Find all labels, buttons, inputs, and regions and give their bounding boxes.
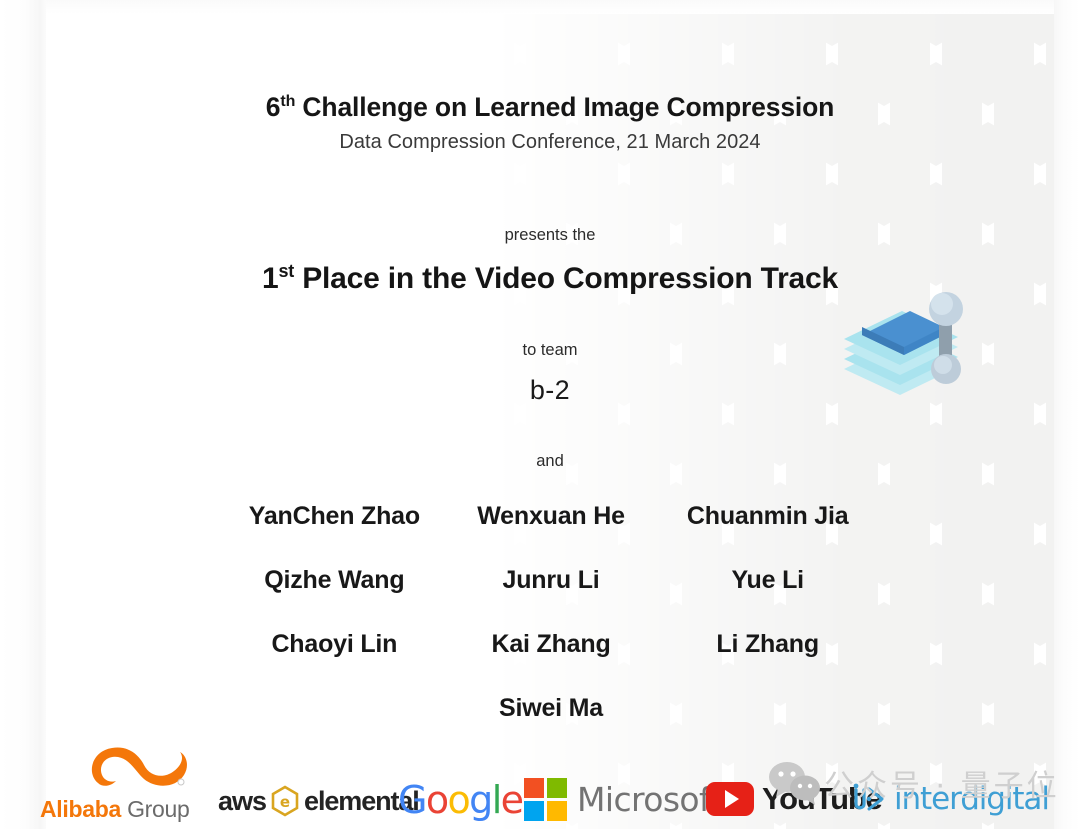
challenge-title-rest: Challenge on Learned Image Compression (295, 92, 834, 122)
google-letter-o2: o (448, 778, 470, 822)
google-letter-o1: o (426, 778, 448, 822)
member-name: YanChen Zhao (226, 502, 443, 531)
award-place-number: 1 (262, 262, 279, 295)
member-name: Chuanmin Jia (659, 502, 876, 531)
microsoft-square-red (524, 778, 544, 798)
member-name: Wenxuan He (443, 502, 660, 531)
sponsor-logo-alibaba[interactable]: Alibaba Group (40, 743, 220, 825)
svg-text:e: e (280, 793, 290, 811)
sponsor-logo-microsoft[interactable]: Microsoft (524, 779, 722, 819)
play-triangle (725, 790, 739, 808)
microsoft-square-blue (524, 801, 544, 821)
alibaba-wordmark: Alibaba Group (40, 796, 190, 823)
and-label: and (46, 452, 1054, 471)
award-title-rest: Place in the Video Compression Track (294, 262, 838, 295)
member-name: Yue Li (659, 566, 876, 595)
google-letter-g2: g (469, 778, 492, 822)
hexagon-e-icon: e (270, 785, 300, 817)
headline-block: 6th Challenge on Learned Image Compressi… (46, 92, 1054, 154)
sponsor-logo-google[interactable]: Google (398, 779, 522, 821)
alibaba-name-group: Group (127, 796, 189, 822)
name-row: Qizhe Wang Junru Li Yue Li (226, 548, 876, 612)
google-letter-e: e (501, 778, 523, 822)
alibaba-name-bold: Alibaba (40, 796, 121, 822)
google-letter-g1: G (398, 778, 426, 822)
google-letter-l: l (492, 778, 501, 822)
award-ordinal-suffix: st (278, 261, 294, 281)
page-edge-right (1054, 0, 1080, 829)
certificate-page: 6th Challenge on Learned Image Compressi… (0, 0, 1080, 829)
microsoft-square-green (547, 778, 567, 798)
sponsor-logo-aws-elemental[interactable]: aws e elemental (218, 781, 419, 821)
microsoft-wordmark: Microsoft (577, 780, 722, 819)
microsoft-square-yellow (547, 801, 567, 821)
member-name: Chaoyi Lin (226, 630, 443, 659)
name-row: YanChen Zhao Wenxuan He Chuanmin Jia (226, 484, 876, 548)
name-row: Chaoyi Lin Kai Zhang Li Zhang (226, 612, 876, 676)
interdigital-wordmark: interdigital (894, 781, 1049, 817)
member-name: Junru Li (443, 566, 660, 595)
member-name: Kai Zhang (443, 630, 660, 659)
aws-wordmark: aws (218, 786, 266, 817)
member-name: Qizhe Wang (226, 566, 443, 595)
microsoft-squares-icon (524, 778, 567, 821)
presents-label: presents the (46, 226, 1054, 245)
member-names-grid: YanChen Zhao Wenxuan He Chuanmin Jia Qiz… (226, 484, 876, 740)
member-name: Li Zhang (659, 630, 876, 659)
interdigital-mark-icon (848, 782, 888, 816)
youtube-play-icon (706, 782, 754, 816)
challenge-title-number: 6 (266, 92, 281, 122)
page-edge-left (0, 0, 46, 829)
sponsor-logo-interdigital[interactable]: interdigital (848, 779, 1049, 819)
compressed-stack-icon (838, 283, 978, 398)
alibaba-mark-icon (82, 743, 194, 795)
name-row: Siwei Ma (226, 676, 876, 740)
challenge-title: 6th Challenge on Learned Image Compressi… (46, 92, 1054, 123)
sponsor-bar: Alibaba Group aws e elemental Google Mic… (0, 737, 1080, 829)
member-name: Siwei Ma (443, 694, 660, 723)
challenge-title-ordinal-suffix: th (280, 93, 295, 110)
certificate-content: 6th Challenge on Learned Image Compressi… (46, 0, 1054, 829)
conference-subtitle: Data Compression Conference, 21 March 20… (46, 131, 1054, 154)
